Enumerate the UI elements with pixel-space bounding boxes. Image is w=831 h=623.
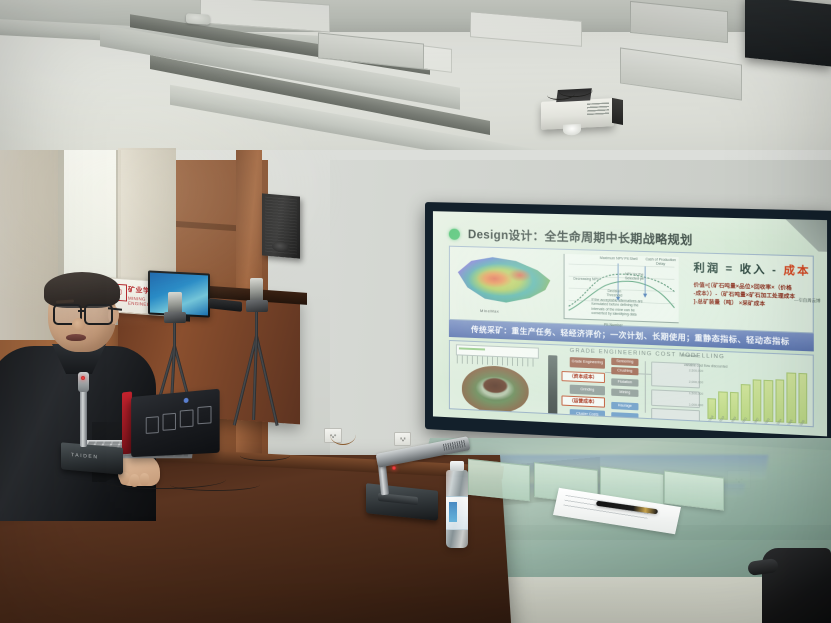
- flow-node-mining: Mining: [611, 389, 638, 397]
- smoke-detector-icon: [186, 13, 210, 25]
- camera-tripod-left: [238, 278, 300, 458]
- chart-annotation-cash-delay: Cash of Production Delay: [644, 257, 678, 267]
- geological-grade-map: [456, 252, 553, 309]
- mic-led-indicator-left: [81, 376, 85, 380]
- bottle-label: [446, 496, 468, 530]
- slide-credit: —引自周云博: [794, 297, 820, 304]
- eyeglasses-bridge: [78, 310, 85, 312]
- laptop-screen[interactable]: [131, 389, 220, 458]
- water-bottle[interactable]: [446, 470, 468, 548]
- laptop-icon-3: [180, 409, 194, 427]
- open-pit-panel: [454, 344, 543, 421]
- conference-room-photo: Design设计：全生命周期中长期战略规划 MineMax: [0, 0, 831, 623]
- chart-annotation-selected: NPV for the Selected pit: [619, 272, 651, 282]
- conference-microphone-left-stem: [80, 385, 87, 447]
- mic-led-indicator-center: [392, 466, 396, 470]
- flow-node-grinding: Grinding: [570, 385, 605, 396]
- chart-annotation-threshold: Decision Threshold: [600, 289, 629, 299]
- flow-label-capital-cost: （资本成本）: [561, 371, 605, 383]
- flow-node-grade-engineering: Grade Engineering: [570, 357, 605, 369]
- presentation-slide: Design设计：全生命周期中长期战略规划 MineMax: [433, 211, 827, 436]
- profit-formula-cost-term: 成本: [783, 264, 810, 277]
- flow-node-haulage: Haulage: [611, 402, 638, 410]
- camera-body-left: [250, 278, 263, 302]
- chart-annotation-decreasing: Decreasing NPV: [571, 277, 602, 282]
- ceiling-projector: [541, 98, 614, 130]
- bar-chart-ylabel-0: 2,500,000: [682, 368, 703, 373]
- tripod-leg-l2: [255, 336, 279, 426]
- profit-formula: 利润 = 收入 - 成本: [694, 260, 809, 279]
- pit-panel-header-bar: [459, 347, 485, 351]
- flow-label-operating-cost: （运营成本）: [561, 395, 605, 407]
- camera-head-left: [246, 300, 268, 312]
- flow-node-cluster-costs: Cluster Costs: [570, 409, 605, 420]
- wall-cable: [330, 424, 356, 445]
- laptop-icon-4: [197, 406, 211, 424]
- presenter-nose: [72, 318, 85, 331]
- slide-title-row: Design设计：全生命周期中长期战略规划: [449, 226, 693, 249]
- value-formula: 价值=[（矿石吨量×品位×回收率×（价格 -成本））-（矿石吨量×矿石加工处理成…: [694, 281, 809, 310]
- wall-speaker: [262, 193, 300, 258]
- bar-chart-title: Financial: [682, 353, 697, 358]
- wall-outlet-mid-2[interactable]: [394, 432, 411, 446]
- flow-node-crushing: Crushing: [611, 367, 638, 375]
- wall-tv: [745, 0, 831, 67]
- conference-microphone-left-head: [78, 372, 89, 392]
- projector-side: [612, 98, 623, 125]
- nameplate-1: [468, 459, 530, 502]
- flow-connector-1: [605, 372, 611, 373]
- flow-node-screening: Screening: [611, 358, 638, 366]
- flow-node-extra: [611, 412, 638, 421]
- financial-bar-chart: Financial variable cost flow discounted …: [682, 353, 810, 427]
- bar-chart-ylabel-1: 2,000,000: [682, 379, 703, 384]
- bar-chart-ylabel-3: 1,000,000: [682, 402, 703, 407]
- map-caption: MineMax: [480, 308, 499, 314]
- open-pit-3d-model: [462, 365, 529, 415]
- projection-screen: Design设计：全生命周期中长期战略规划 MineMax: [425, 202, 831, 451]
- bottle-cap: [450, 461, 464, 471]
- bar-chart-x-labels: 201820192020202120222023202420252026: [707, 420, 807, 427]
- formula-area: 利润 = 收入 - 成本 价值=[（矿石吨量×品位×回收率×（价格 -成本））-…: [694, 260, 809, 311]
- bullet-dot-icon: [449, 228, 460, 239]
- laptop-icon-1: [146, 416, 159, 434]
- chart-annotation-note: If the acceptable alternatives are formu…: [591, 298, 647, 317]
- flow-connector-3: [645, 361, 646, 413]
- presenter-mouth: [66, 334, 86, 341]
- slide-top-content: MineMax: [449, 246, 814, 334]
- desk-cable-2: [170, 478, 260, 491]
- slide-bottom-content: GRADE ENGINEERING COST MODELLING Grade E…: [449, 340, 814, 427]
- slide-corner-shadow: [785, 219, 827, 252]
- tripod-center-post-left: [255, 312, 258, 338]
- desk-cable-3: [240, 450, 290, 461]
- flow-sidebar: [548, 355, 557, 416]
- projector-vents: [587, 102, 609, 116]
- laptop-logo-icon: [184, 398, 189, 403]
- npv-line-chart: Maximum NPV Pit Shell Cash of Production…: [564, 254, 679, 323]
- mic-brand-label: TAIDEN: [71, 452, 99, 460]
- flow-node-flotation: Flotation: [611, 378, 638, 386]
- laptop-icon-2: [163, 413, 176, 431]
- conference-microphone-left-base[interactable]: TAIDEN: [61, 442, 123, 474]
- bar-chart-ylabel-2: 1,500,000: [682, 391, 703, 396]
- slide-title: Design设计：全生命周期中长期战略规划: [468, 226, 693, 248]
